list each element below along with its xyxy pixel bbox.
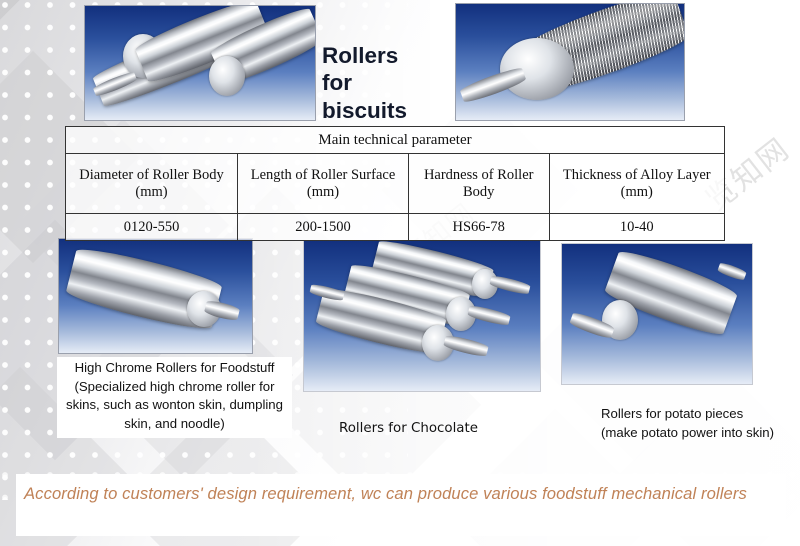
page-title-line: Rollers <box>322 42 447 69</box>
caption-chocolate-rollers: Rollers for Chocolate <box>339 420 529 439</box>
table-column-header: Hardness of Roller Body <box>408 154 549 214</box>
page-title-line: for <box>322 69 447 96</box>
high-chrome-roller-photo <box>58 238 253 354</box>
table-row: 0120-550 200-1500 HS66-78 10-40 <box>66 214 725 241</box>
table-cell: 0120-550 <box>66 214 238 241</box>
table-column-header: Diameter of Roller Body (mm) <box>66 154 238 214</box>
page-title: Rollers for biscuits <box>322 42 447 124</box>
potato-roller-photo <box>561 243 753 385</box>
bottom-banner: According to customers' design requireme… <box>16 474 786 536</box>
two-chrome-rollers-photo <box>84 5 316 121</box>
caption-potato-rollers: Rollers for potato pieces (make potato p… <box>601 404 776 442</box>
bottom-banner-text: According to customers' design requireme… <box>16 474 786 507</box>
table-column-header: Length of Roller Surface (mm) <box>238 154 409 214</box>
chocolate-rollers-photo <box>303 240 541 392</box>
technical-parameter-table: Main technical parameter Diameter of Rol… <box>65 126 725 241</box>
page-title-line: biscuits <box>322 97 447 124</box>
table-column-header: Thickness of Alloy Layer (mm) <box>549 154 725 214</box>
table-cell: HS66-78 <box>408 214 549 241</box>
table-cell: 10-40 <box>549 214 725 241</box>
table-cell: 200-1500 <box>238 214 409 241</box>
table-row: Main technical parameter <box>66 127 725 154</box>
table-row: Diameter of Roller Body (mm) Length of R… <box>66 154 725 214</box>
caption-high-chrome-rollers: High Chrome Rollers for Foodstuff (Speci… <box>57 357 292 438</box>
fluted-roller-photo <box>455 3 685 121</box>
slide-canvas: 览知网 览知网 <box>0 0 800 546</box>
table-main-header: Main technical parameter <box>66 127 725 154</box>
